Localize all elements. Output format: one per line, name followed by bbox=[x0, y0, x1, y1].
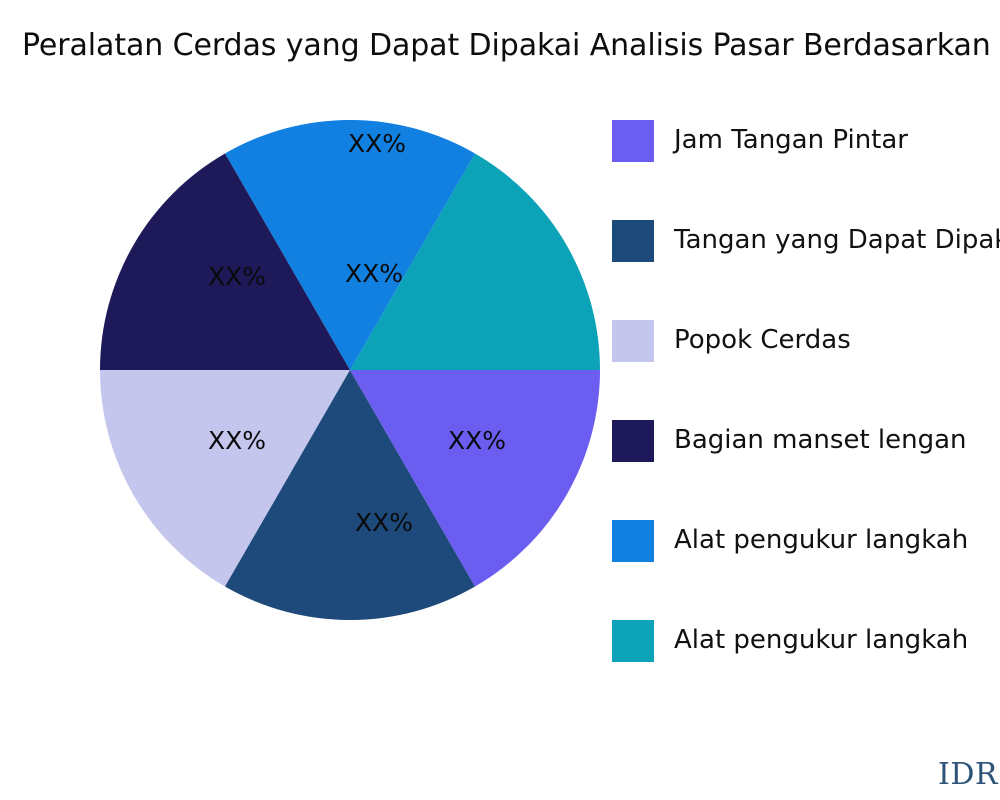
watermark-label: IDR bbox=[938, 757, 998, 792]
legend-item-label: Alat pengukur langkah bbox=[674, 517, 968, 563]
legend-item-label: Bagian manset lengan bbox=[674, 417, 967, 463]
pie-label-lower-left: XX% bbox=[208, 426, 266, 455]
legend-item-label: Popok Cerdas bbox=[674, 317, 851, 363]
pie-label-lower-right: XX% bbox=[448, 426, 506, 455]
legend-item-label: Tangan yang Dapat Dipakai bbox=[674, 217, 1000, 263]
legend: Jam Tangan Pintar Tangan yang Dapat Dipa… bbox=[612, 118, 1000, 718]
legend-item-label: Alat pengukur langkah bbox=[674, 617, 968, 663]
page-title: Peralatan Cerdas yang Dapat Dipakai Anal… bbox=[22, 26, 1000, 66]
legend-swatch-icon bbox=[612, 520, 654, 562]
legend-swatch-icon bbox=[612, 320, 654, 362]
legend-item-bagian-manset-lengan[interactable]: Bagian manset lengan bbox=[612, 418, 1000, 518]
legend-item-alat-pengukur-langkah-teal[interactable]: Alat pengukur langkah bbox=[612, 618, 1000, 718]
pie-label-bottom: XX% bbox=[355, 508, 413, 537]
legend-swatch-icon bbox=[612, 420, 654, 462]
pie-svg: XX% XX% XX% XX% XX% XX% bbox=[100, 120, 600, 620]
legend-item-label: Jam Tangan Pintar bbox=[674, 117, 908, 163]
legend-swatch-icon bbox=[612, 120, 654, 162]
pie-label-upper-left: XX% bbox=[208, 262, 266, 291]
legend-item-jam-tangan-pintar[interactable]: Jam Tangan Pintar bbox=[612, 118, 1000, 218]
legend-item-tangan-yang-dapat-dipakai[interactable]: Tangan yang Dapat Dipakai bbox=[612, 218, 1000, 318]
legend-swatch-icon bbox=[612, 220, 654, 262]
pie-chart-plot-area: XX% XX% XX% XX% XX% XX% bbox=[100, 120, 600, 620]
legend-item-alat-pengukur-langkah-blue[interactable]: Alat pengukur langkah bbox=[612, 518, 1000, 618]
pie-label-upper-right: XX% bbox=[348, 129, 406, 158]
pie-label-top: XX% bbox=[345, 259, 403, 288]
legend-swatch-icon bbox=[612, 620, 654, 662]
pie-chart-figure: Peralatan Cerdas yang Dapat Dipakai Anal… bbox=[0, 0, 1000, 800]
legend-item-popok-cerdas[interactable]: Popok Cerdas bbox=[612, 318, 1000, 418]
